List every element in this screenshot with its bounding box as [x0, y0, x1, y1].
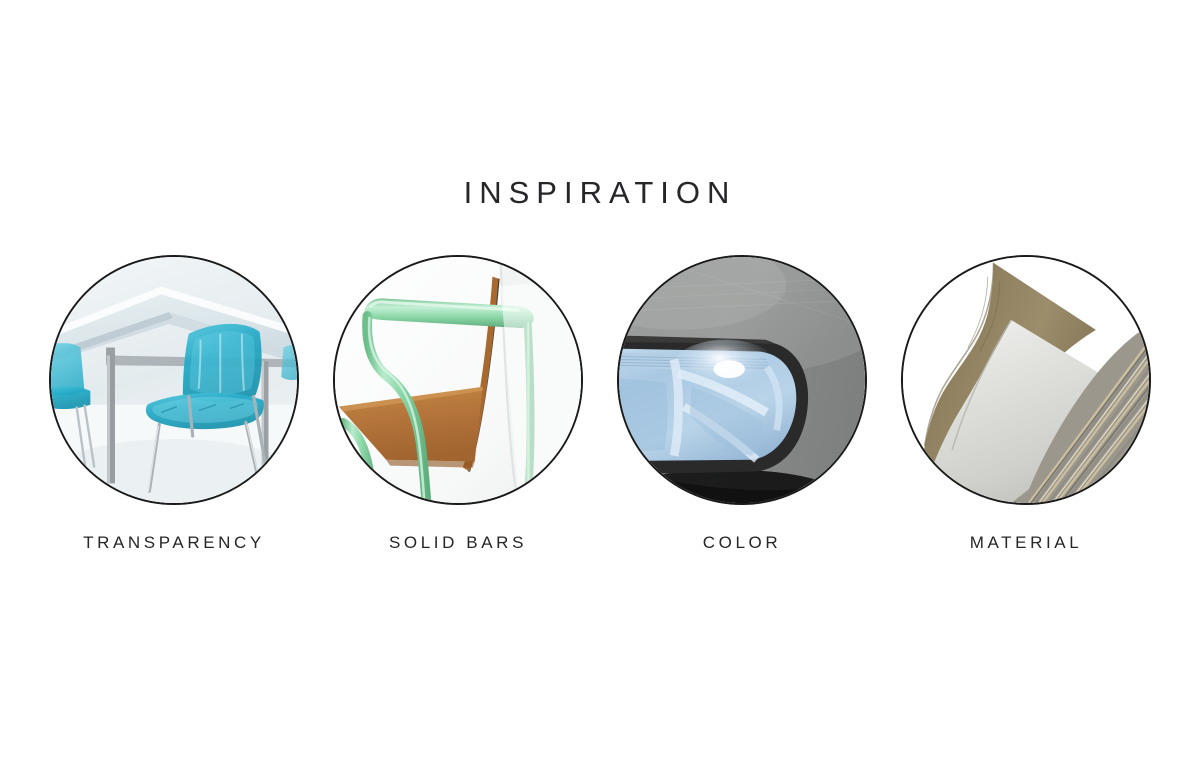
paintbrush-wood-handle-metal-ferrule-photo: [903, 257, 1149, 503]
tile-label-material: MATERIAL: [970, 533, 1083, 553]
inspiration-tile-row: TRANSPARENCY: [48, 255, 1152, 575]
inspiration-tile-solid-bars[interactable]: SOLID BARS: [332, 255, 584, 575]
tile-label-solid-bars: SOLID BARS: [389, 533, 527, 553]
tile-label-color: COLOR: [703, 533, 781, 553]
mint-green-tubular-chair-frame-photo: [335, 257, 581, 503]
color-circle-frame[interactable]: [617, 255, 867, 505]
inspiration-tile-transparency[interactable]: TRANSPARENCY: [48, 255, 300, 575]
transparency-circle-frame[interactable]: [49, 255, 299, 505]
backlit-blue-panel-gray-shell-photo: [619, 257, 865, 503]
inspiration-tile-color[interactable]: COLOR: [616, 255, 868, 575]
tile-label-transparency: TRANSPARENCY: [83, 533, 265, 553]
transparent-acrylic-chairs-glass-table-photo: [51, 257, 297, 503]
inspiration-tile-material[interactable]: MATERIAL: [900, 255, 1152, 575]
solid-bars-circle-frame[interactable]: [333, 255, 583, 505]
material-circle-frame[interactable]: [901, 255, 1151, 505]
inspiration-board: INSPIRATION: [0, 0, 1200, 776]
page-title: INSPIRATION: [0, 175, 1200, 211]
